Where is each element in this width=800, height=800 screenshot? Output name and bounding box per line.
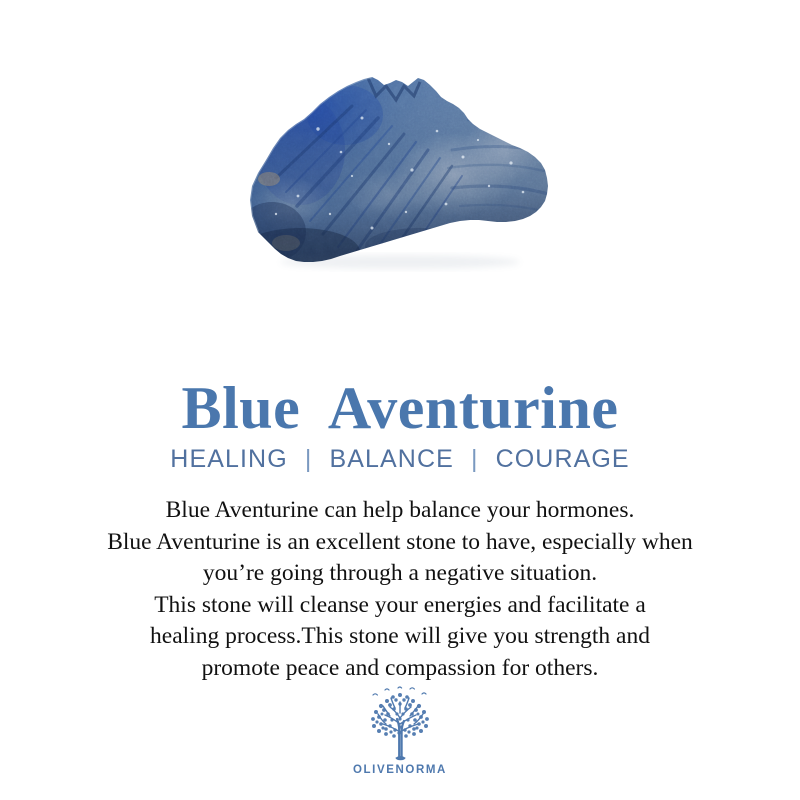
description-text: Blue Aventurine can help balance your ho…	[0, 495, 800, 684]
stone-info-card: Blue Aventurine HEALING | BALANCE | COUR…	[0, 0, 800, 800]
description-line: promote peace and compassion for others.	[0, 653, 800, 685]
keyword-separator: |	[296, 445, 322, 473]
stone-illustration	[0, 0, 800, 300]
olive-tree-icon	[352, 686, 448, 762]
keyword-courage: COURAGE	[496, 445, 630, 473]
stone-body	[235, 60, 570, 280]
brand-logo: OLIVENORMA	[0, 686, 800, 776]
brand-wordmark: OLIVENORMA	[353, 764, 447, 776]
description-line: you’re going through a negative situatio…	[0, 558, 800, 590]
keyword-balance: BALANCE	[329, 445, 453, 473]
description-line: Blue Aventurine is an excellent stone to…	[0, 527, 800, 559]
description-line: This stone will cleanse your energies an…	[0, 590, 800, 622]
description-line: Blue Aventurine can help balance your ho…	[0, 495, 800, 527]
stone-image	[0, 0, 800, 300]
keyword-healing: HEALING	[170, 445, 287, 473]
keyword-list: HEALING | BALANCE | COURAGE	[0, 443, 800, 475]
page-title: Blue Aventurine	[0, 372, 800, 444]
description-line: healing process.This stone will give you…	[0, 621, 800, 653]
keyword-separator: |	[462, 445, 488, 473]
